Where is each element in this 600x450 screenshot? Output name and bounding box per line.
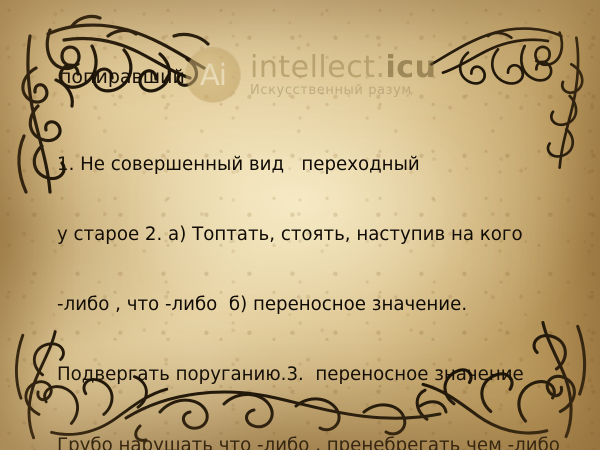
article-body: 1. Не совершенный вид переходный у старо… [57,106,557,450]
slide-canvas: Ai intellect.icu Искусственный разум поп… [0,0,600,450]
article-line: Грубо нарушать что -либо , пренебрегать … [57,434,557,450]
article-line: у старое 2. а) Топтать, стоять, наступив… [57,223,557,246]
page-title: попиравший [59,68,185,87]
ai-circle-logo-icon: Ai [186,48,240,102]
article-line: -либо , что -либо б) переносное значение… [57,293,557,316]
article-line: 1. Не совершенный вид переходный [57,153,557,176]
watermark-brand: intellect.icu [250,52,436,84]
watermark-brand-main: intellect. [250,50,386,85]
article-line: Подвергать поруганию.3. переносное значе… [57,363,557,386]
watermark: Ai intellect.icu Искусственный разум [186,48,436,102]
watermark-text-block: intellect.icu Искусственный разум [250,52,436,98]
watermark-brand-accent: icu [386,50,437,85]
watermark-tagline: Искусственный разум [250,84,436,98]
watermark-badge-text: Ai [200,58,226,92]
